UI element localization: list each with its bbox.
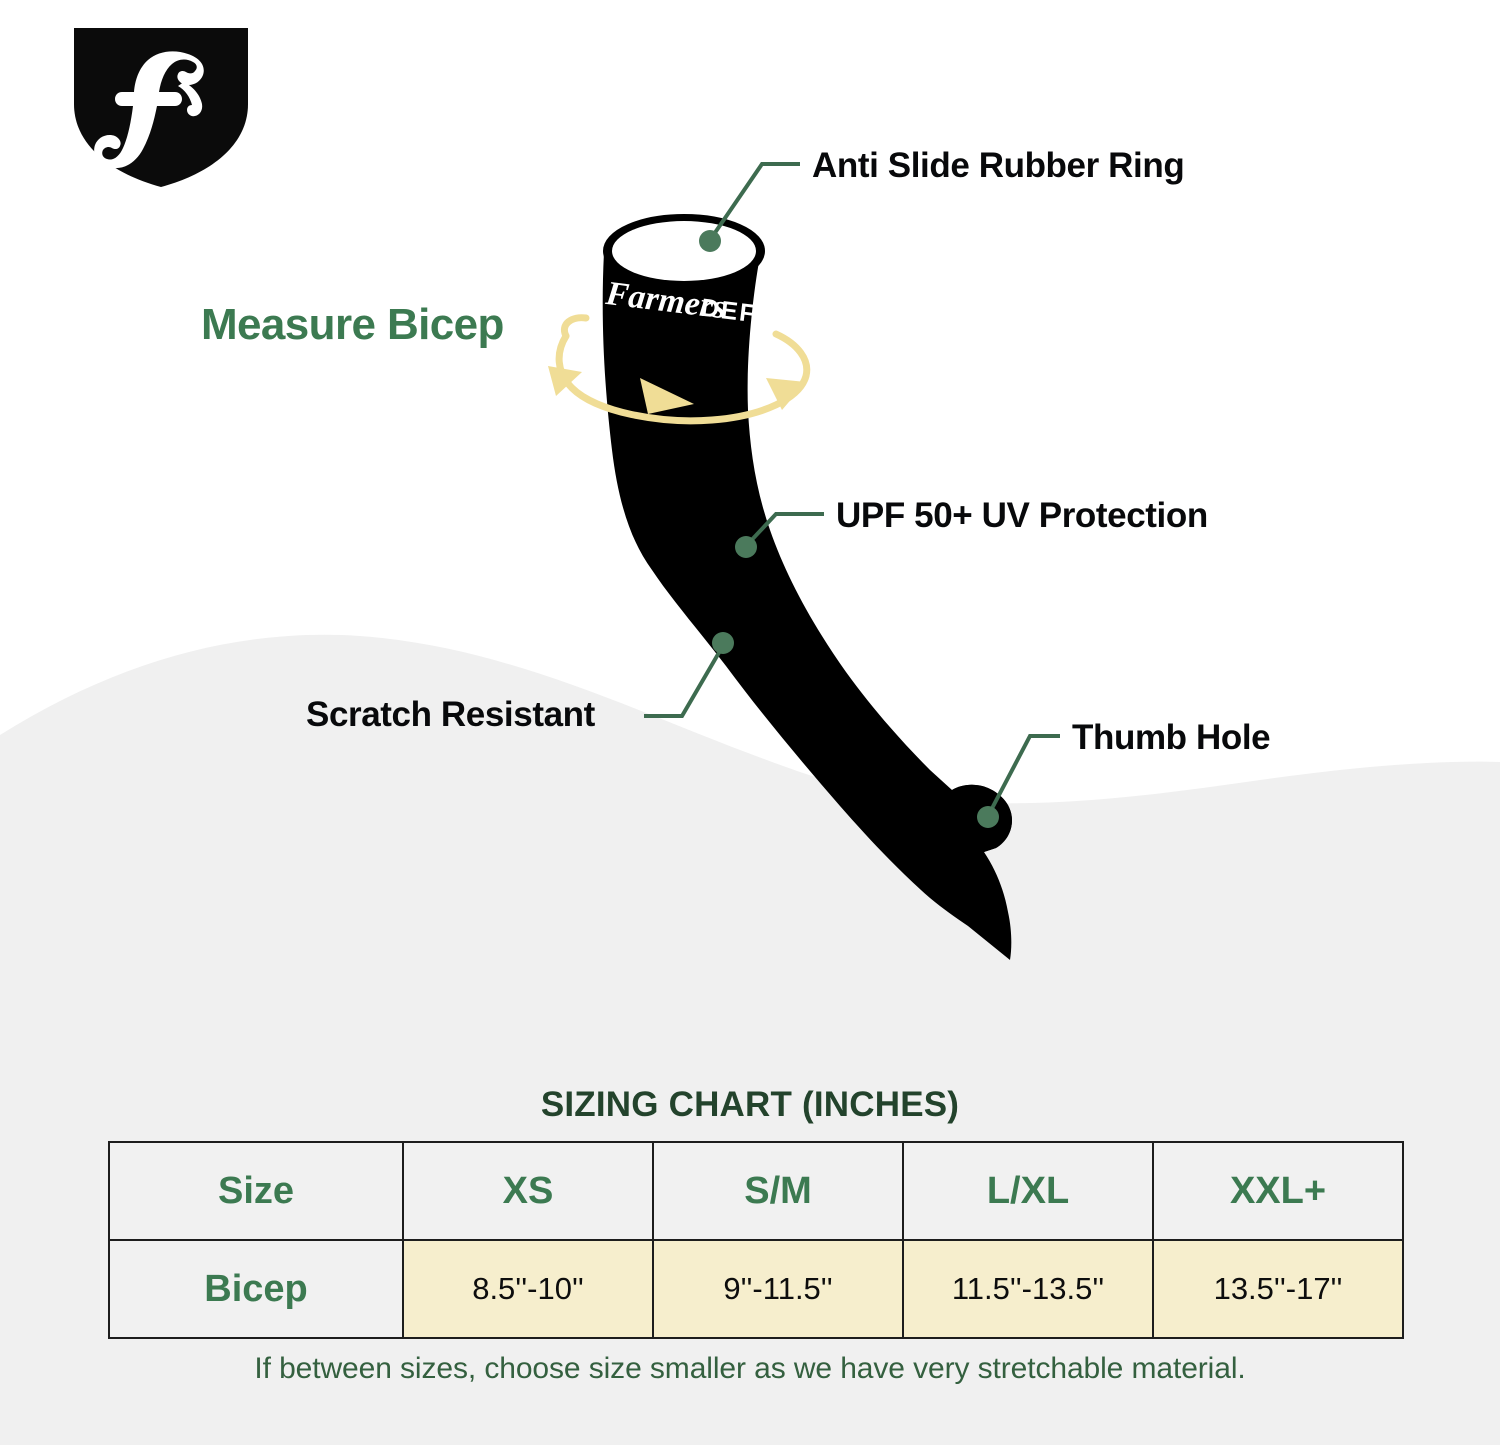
callout-label-upf-protection: UPF 50+ UV Protection bbox=[836, 498, 1208, 533]
table-header-row: Size XS S/M L/XL XXL+ bbox=[109, 1142, 1403, 1240]
callout-label-anti-slide-rubber-ring: Anti Slide Rubber Ring bbox=[812, 148, 1184, 183]
measure-bicep-label: Measure Bicep bbox=[201, 303, 504, 347]
sizing-chart-note: If between sizes, choose size smaller as… bbox=[0, 1352, 1500, 1386]
table-header-xs: XS bbox=[403, 1142, 653, 1240]
sizing-chart-table: Size XS S/M L/XL XXL+ Bicep 8.5''-10'' 9… bbox=[108, 1141, 1404, 1339]
table-row: Bicep 8.5''-10'' 9''-11.5'' 11.5''-13.5'… bbox=[109, 1240, 1403, 1338]
table-cell-bicep-xxl: 13.5''-17'' bbox=[1153, 1240, 1403, 1338]
callout-label-thumb-hole: Thumb Hole bbox=[1072, 720, 1270, 755]
table-cell-bicep-xs: 8.5''-10'' bbox=[403, 1240, 653, 1338]
dot-thumb-hole bbox=[977, 806, 999, 828]
table-cell-bicep-lxl: 11.5''-13.5'' bbox=[903, 1240, 1153, 1338]
table-row-label-bicep: Bicep bbox=[109, 1240, 403, 1338]
table-header-xxl: XXL+ bbox=[1153, 1142, 1403, 1240]
dot-upf-protection bbox=[735, 536, 757, 558]
leader-scratch-resistant bbox=[644, 644, 724, 716]
table-header-size: Size bbox=[109, 1142, 403, 1240]
table-header-sm: S/M bbox=[653, 1142, 903, 1240]
brand-shield-logo bbox=[62, 18, 260, 198]
table-cell-bicep-sm: 9''-11.5'' bbox=[653, 1240, 903, 1338]
sizing-infographic-page: Farmers DEFENSE Anti Slide Rubber bbox=[0, 0, 1500, 1445]
dot-scratch-resistant bbox=[712, 632, 734, 654]
leader-thumb-hole bbox=[988, 736, 1060, 816]
table-header-lxl: L/XL bbox=[903, 1142, 1153, 1240]
leader-anti-slide-rubber-ring bbox=[710, 164, 800, 240]
sizing-chart-title: SIZING CHART (INCHES) bbox=[0, 1085, 1500, 1125]
leader-upf-protection bbox=[746, 514, 824, 546]
dot-anti-slide-rubber-ring bbox=[699, 230, 721, 252]
callout-label-scratch-resistant: Scratch Resistant bbox=[306, 697, 595, 732]
